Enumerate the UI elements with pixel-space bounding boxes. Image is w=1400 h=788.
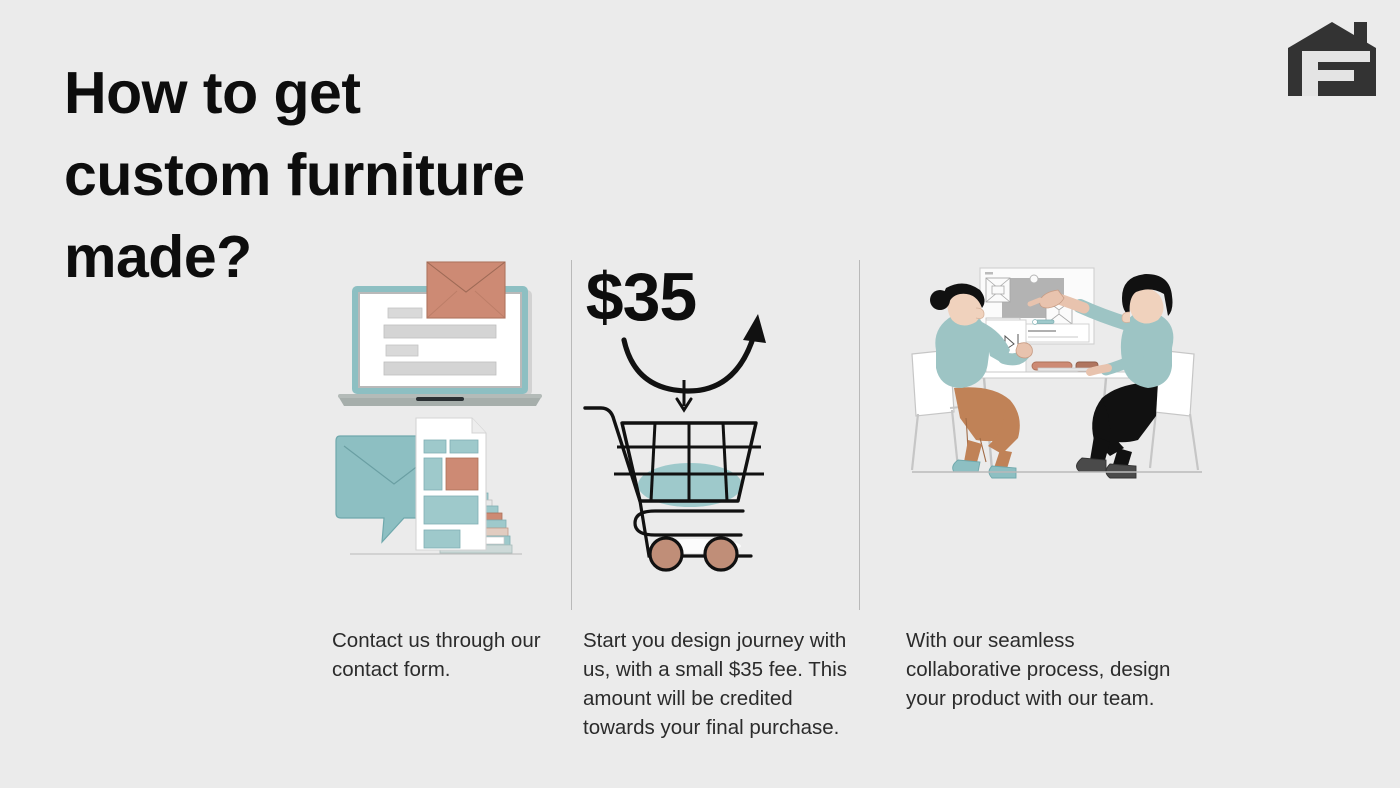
cart-lower-rail — [635, 511, 743, 535]
step-1-illustration-group — [332, 258, 557, 568]
cart-wheel-right — [705, 538, 737, 570]
step-1-caption: Contact us through our contact form. — [332, 626, 547, 684]
price-label: $35 — [586, 259, 696, 335]
step-2-illustration-group: $35 — [583, 258, 858, 583]
slide-canvas: How to get custom furniture made? — [0, 0, 1400, 788]
shopping-cart-illustration: $35 — [583, 258, 813, 583]
envelope-shape — [427, 262, 505, 318]
brand-logo[interactable] — [1284, 18, 1380, 100]
step-2-caption: Start you design journey with us, with a… — [583, 626, 863, 742]
step-3-caption: With our seamless collaborative process,… — [906, 626, 1174, 713]
column-divider-2 — [859, 260, 860, 610]
page-title-line-2: custom furniture — [64, 134, 624, 216]
down-arrow-icon — [677, 380, 691, 410]
step-3-illustration-group — [906, 258, 1186, 498]
cart-wheel-left — [650, 538, 682, 570]
collaboration-illustration — [906, 258, 1206, 498]
house-f-logo-icon — [1284, 18, 1380, 100]
column-divider-1 — [571, 260, 572, 610]
document-sheet — [416, 418, 486, 550]
laptop-contact-form-illustration — [332, 258, 557, 568]
page-title-line-1: How to get — [64, 52, 624, 134]
